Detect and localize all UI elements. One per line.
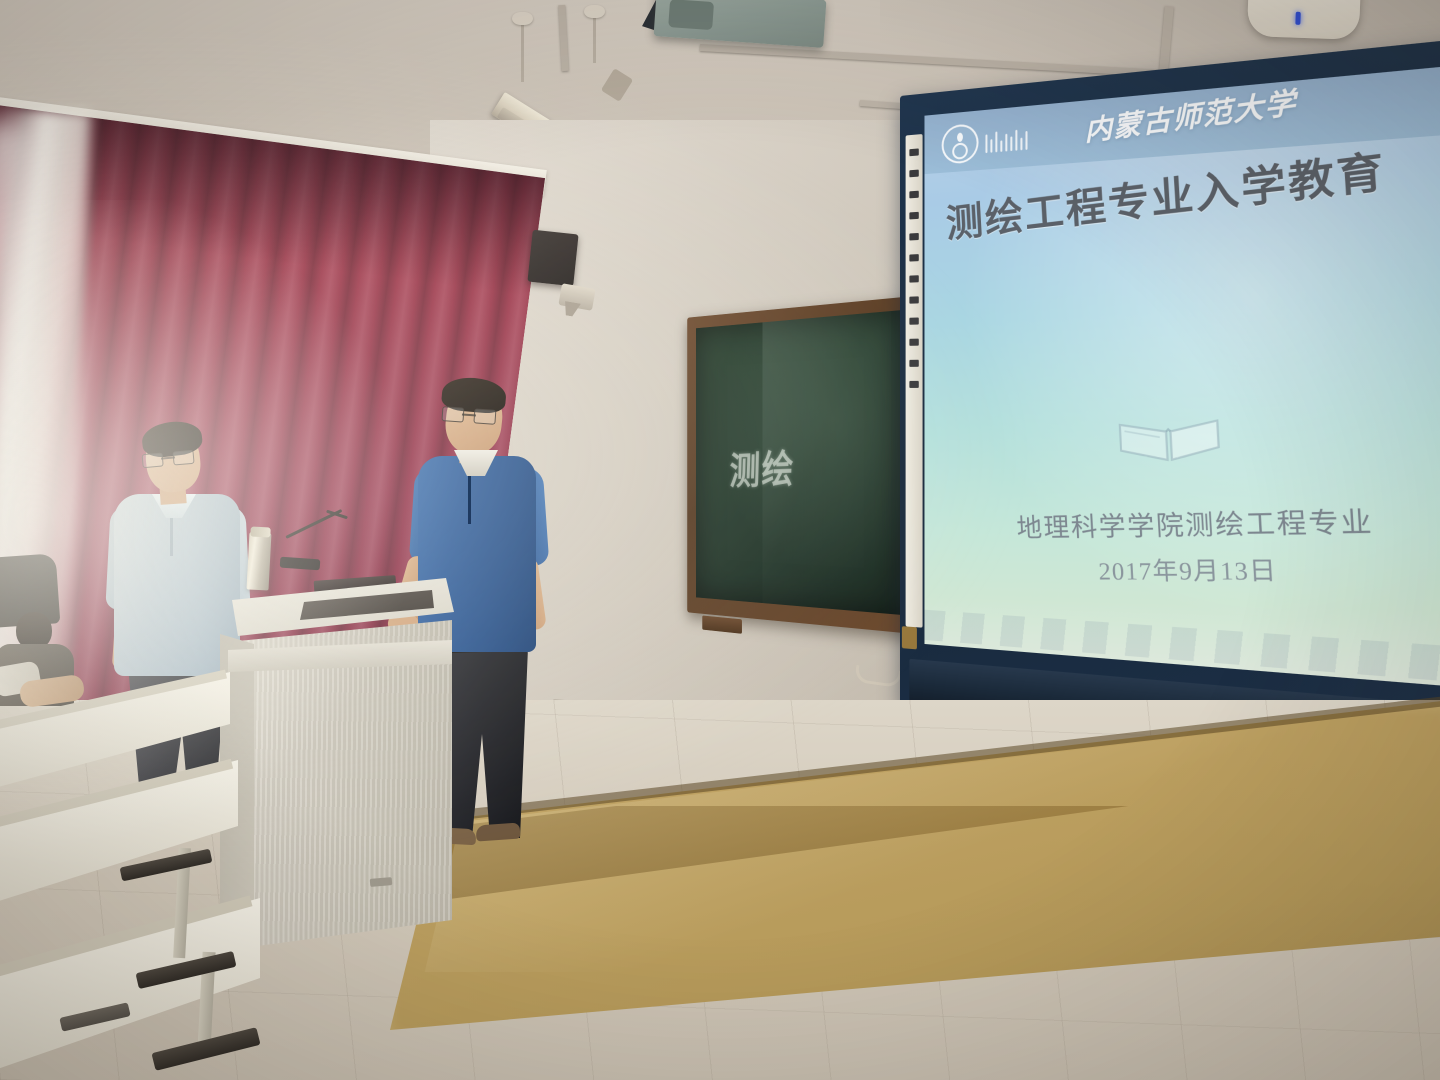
iwb-button-icon[interactable] xyxy=(909,339,918,346)
projector-lens-icon xyxy=(668,0,714,30)
thermos-cap xyxy=(250,527,270,538)
right-person-shirt-placket xyxy=(468,476,471,524)
iwb-button-icon[interactable] xyxy=(909,191,918,199)
slide-surface: 内蒙古师范大学 测绘工程专业入学教育 地理科学学院测绘工程专业 2017年9月1… xyxy=(924,62,1440,690)
slide-date: 2017年9月13日 xyxy=(924,547,1440,588)
iwb-button-icon[interactable] xyxy=(909,317,918,324)
status-led-indicator xyxy=(1295,12,1300,25)
lectern-podium xyxy=(222,578,454,950)
iwb-button-icon[interactable] xyxy=(909,254,918,261)
glasses-icon xyxy=(442,406,497,423)
open-book-icon xyxy=(1115,410,1224,464)
left-person-shirt-placket xyxy=(170,512,173,556)
wall-ac-unit xyxy=(1247,0,1361,40)
wall-speaker xyxy=(527,230,578,287)
mongolian-script-icon xyxy=(985,127,1027,153)
classroom-scene: 测绘 内蒙古师范大学 测绘工程专业入学教育 xyxy=(0,0,1440,1080)
seal-icon xyxy=(942,123,979,165)
chalk-writing: 测绘 xyxy=(729,437,796,496)
university-seal-logo xyxy=(942,118,1028,164)
iwb-button-icon[interactable] xyxy=(909,233,918,241)
iwb-button-icon[interactable] xyxy=(909,296,918,303)
blackboard-surface: 测绘 xyxy=(696,310,902,615)
hanger-knob xyxy=(512,12,533,25)
iwb-button-icon[interactable] xyxy=(909,170,918,178)
hanger-knob xyxy=(584,5,605,18)
iwb-button-icon[interactable] xyxy=(909,381,918,388)
iwb-control-strip[interactable] xyxy=(906,134,923,628)
iwb-button-icon[interactable] xyxy=(909,275,918,282)
iwb-button-icon[interactable] xyxy=(909,212,918,220)
iwb-button-icon[interactable] xyxy=(909,360,918,367)
light-hanger-rod xyxy=(593,15,596,63)
screen-corner-bracket xyxy=(902,626,917,649)
iwb-button-icon[interactable] xyxy=(909,148,918,156)
blackboard: 测绘 xyxy=(687,296,914,634)
gooseneck-microphone[interactable] xyxy=(286,510,346,568)
light-endcap xyxy=(601,68,633,102)
projection-screen[interactable]: 内蒙古师范大学 测绘工程专业入学教育 地理科学学院测绘工程专业 2017年9月1… xyxy=(900,33,1440,769)
right-person-shoe xyxy=(475,822,520,841)
